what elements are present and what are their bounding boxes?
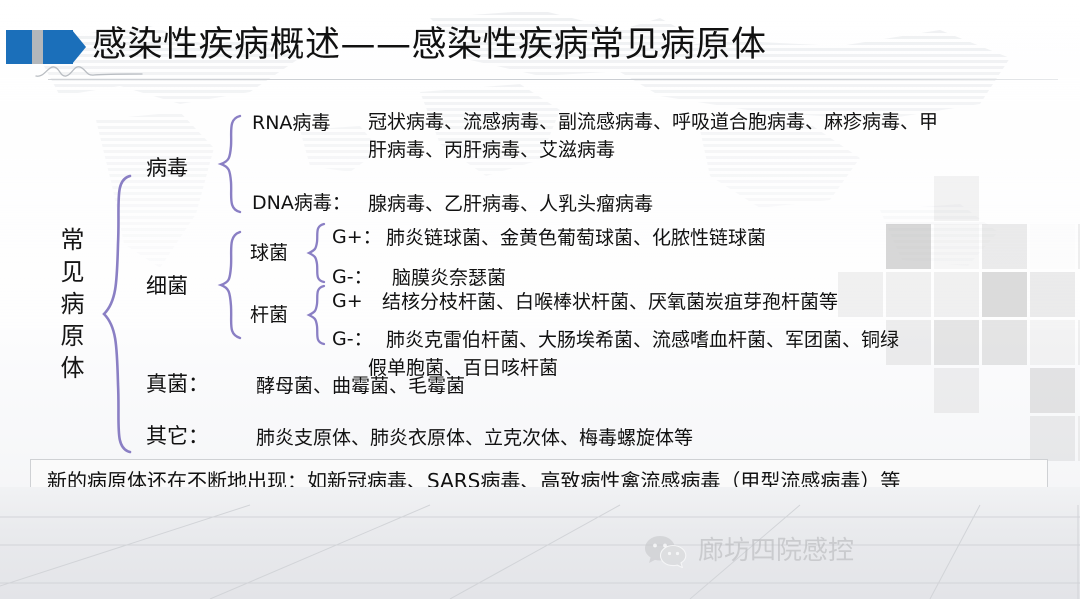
items-rna-virus: 冠状病毒、流感病毒、副流感病毒、呼吸道合胞病毒、麻疹病毒、甲 肝病毒、丙肝病毒、… <box>368 108 938 164</box>
branch-label-virus: 病毒 <box>146 154 188 182</box>
gram-tag-cocci-negative: G-： <box>332 264 373 290</box>
items-fungi: 酵母菌、曲霉菌、毛霉菌 <box>256 372 465 400</box>
items-bacilli-positive-line-0: 结核分枝杆菌、白喉棒状杆菌、厌氧菌炭疽芽孢杆菌等 <box>382 288 838 316</box>
items-others-line-0: 肺炎支原体、肺炎衣原体、立克次体、梅毒螺旋体等 <box>256 424 693 452</box>
subgroup-label-bacilli: 杆菌 <box>250 302 288 328</box>
root-label-char-1: 见 <box>56 256 90 288</box>
brace-cocci <box>306 222 328 284</box>
gram-tag-bacilli-positive: G+ <box>332 288 363 314</box>
gram-tag-cocci-positive: G+： <box>332 224 382 250</box>
callout-box: 新的病原体还在不断地出现：如新冠病毒、SARS病毒、高致病性禽流感病毒（甲型流感… <box>30 459 1048 501</box>
root-label: 常 见 病 原 体 <box>56 224 90 384</box>
slide-header: 感染性疾病概述——感染性疾病常见病原体 <box>0 0 1080 82</box>
branch-label-others: 其它： <box>146 422 209 450</box>
items-rna-virus-line-1: 肝病毒、丙肝病毒、艾滋病毒 <box>368 136 938 164</box>
wechat-icon <box>644 534 688 568</box>
root-label-char-0: 常 <box>56 224 90 256</box>
subgroup-label-rna-virus: RNA病毒 <box>252 110 330 136</box>
page-title: 感染性疾病概述——感染性疾病常见病原体 <box>92 20 767 70</box>
root-label-char-4: 体 <box>56 352 90 384</box>
subgroup-label-cocci: 球菌 <box>250 240 288 266</box>
root-label-char-3: 原 <box>56 320 90 352</box>
items-dna-virus: 腺病毒、乙肝病毒、人乳头瘤病毒 <box>368 190 653 218</box>
branch-label-fungi: 真菌： <box>146 370 209 398</box>
watermark-text: 廊坊四院感控 <box>698 534 854 568</box>
items-dna-virus-line-0: 腺病毒、乙肝病毒、人乳头瘤病毒 <box>368 190 653 218</box>
items-cocci-positive: 肺炎链球菌、金黄色葡萄球菌、化脓性链球菌 <box>386 224 766 252</box>
header-bullet-icon <box>6 30 86 64</box>
diagram-body: 常 见 病 原 体 病毒 RNA病毒 冠状病毒、流感病毒、副流感病毒、呼吸道合胞… <box>0 82 1080 482</box>
brace-root <box>100 174 134 454</box>
callout-text: 新的病原体还在不断地出现：如新冠病毒、SARS病毒、高致病性禽流感病毒（甲型流感… <box>47 460 900 502</box>
brace-bacteria <box>218 230 244 340</box>
items-rna-virus-line-0: 冠状病毒、流感病毒、副流感病毒、呼吸道合胞病毒、麻疹病毒、甲 <box>368 108 938 136</box>
brace-virus <box>218 114 244 214</box>
branch-label-bacteria: 细菌 <box>146 272 188 300</box>
title-divider <box>48 79 1058 80</box>
items-bacilli-positive: 结核分枝杆菌、白喉棒状杆菌、厌氧菌炭疽芽孢杆菌等 <box>382 288 838 316</box>
root-label-char-2: 病 <box>56 288 90 320</box>
gram-tag-bacilli-negative: G-： <box>332 326 373 352</box>
items-fungi-line-0: 酵母菌、曲霉菌、毛霉菌 <box>256 372 465 400</box>
subgroup-label-dna-virus: DNA病毒： <box>252 190 351 216</box>
items-bacilli-negative-line-0: 肺炎克雷伯杆菌、大肠埃希菌、流感嗜血杆菌、军团菌、铜绿 <box>386 326 899 354</box>
slide: 感染性疾病概述——感染性疾病常见病原体 常 见 病 原 体 病毒 RNA病毒 冠… <box>0 0 1080 599</box>
watermark: 廊坊四院感控 <box>644 528 1064 574</box>
items-cocci-positive-line-0: 肺炎链球菌、金黄色葡萄球菌、化脓性链球菌 <box>386 224 766 252</box>
brace-bacilli <box>306 284 328 346</box>
items-others: 肺炎支原体、肺炎衣原体、立克次体、梅毒螺旋体等 <box>256 424 693 452</box>
